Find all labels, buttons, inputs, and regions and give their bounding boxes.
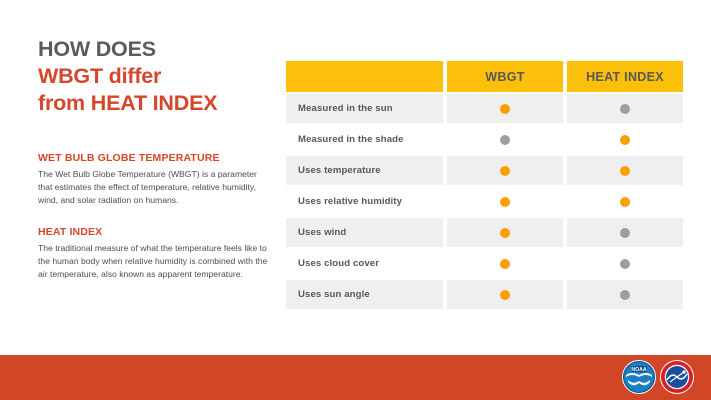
table-row: Uses relative humidity bbox=[286, 187, 683, 216]
dot-yes-icon bbox=[500, 259, 510, 269]
row-label-text: Measured in the shade bbox=[298, 134, 404, 145]
footer-logos: NOAA bbox=[622, 360, 694, 394]
row-label-cell: Uses sun angle bbox=[286, 280, 443, 309]
left-panel: HOW DOES WBGT differ from HEAT INDEX WET… bbox=[38, 36, 273, 281]
row-label-cell: Uses cloud cover bbox=[286, 249, 443, 278]
footer-bar: NOAA bbox=[0, 355, 711, 400]
header-cell-heat-index: HEAT INDEX bbox=[567, 61, 683, 92]
dot-yes-icon bbox=[620, 197, 630, 207]
dot-yes-icon bbox=[500, 104, 510, 114]
section-heat-index-heading: HEAT INDEX bbox=[38, 226, 273, 238]
dot-no-icon bbox=[620, 104, 630, 114]
dot-no-icon bbox=[500, 135, 510, 145]
title-line-2: WBGT differ bbox=[38, 63, 273, 90]
title-line-1: HOW DOES bbox=[38, 36, 273, 63]
wbgt-mark-cell bbox=[447, 187, 563, 216]
table-row: Uses temperature bbox=[286, 156, 683, 185]
dot-no-icon bbox=[620, 228, 630, 238]
row-label-cell: Measured in the shade bbox=[286, 125, 443, 154]
dot-yes-icon bbox=[500, 166, 510, 176]
dot-yes-icon bbox=[620, 166, 630, 176]
section-heat-index-body: The traditional measure of what the temp… bbox=[38, 242, 273, 282]
wbgt-mark-cell bbox=[447, 156, 563, 185]
heat-index-mark-cell bbox=[567, 249, 683, 278]
infographic-page: HOW DOES WBGT differ from HEAT INDEX WET… bbox=[0, 0, 711, 400]
nws-logo bbox=[660, 360, 694, 394]
page-title: HOW DOES WBGT differ from HEAT INDEX bbox=[38, 36, 273, 117]
section-wbgt-body: The Wet Bulb Globe Temperature (WBGT) is… bbox=[38, 168, 273, 208]
svg-text:NOAA: NOAA bbox=[631, 367, 647, 373]
table-body: Measured in the sunMeasured in the shade… bbox=[286, 94, 683, 309]
section-heat-index: HEAT INDEX The traditional measure of wh… bbox=[38, 226, 273, 282]
table-header-row: WBGT HEAT INDEX bbox=[286, 61, 683, 92]
heat-index-mark-cell bbox=[567, 94, 683, 123]
heat-index-mark-cell bbox=[567, 125, 683, 154]
row-label-cell: Measured in the sun bbox=[286, 94, 443, 123]
wbgt-mark-cell bbox=[447, 125, 563, 154]
heat-index-mark-cell bbox=[567, 280, 683, 309]
wbgt-mark-cell bbox=[447, 94, 563, 123]
dot-yes-icon bbox=[500, 197, 510, 207]
wbgt-mark-cell bbox=[447, 218, 563, 247]
heat-index-mark-cell bbox=[567, 156, 683, 185]
heat-index-mark-cell bbox=[567, 187, 683, 216]
row-label-cell: Uses relative humidity bbox=[286, 187, 443, 216]
row-label-cell: Uses temperature bbox=[286, 156, 443, 185]
table-row: Uses cloud cover bbox=[286, 249, 683, 278]
heat-index-mark-cell bbox=[567, 218, 683, 247]
row-label-text: Measured in the sun bbox=[298, 103, 393, 114]
dot-no-icon bbox=[620, 290, 630, 300]
table-row: Uses sun angle bbox=[286, 280, 683, 309]
dot-no-icon bbox=[620, 259, 630, 269]
header-cell-blank bbox=[286, 61, 443, 92]
noaa-logo: NOAA bbox=[622, 360, 656, 394]
table-row: Measured in the sun bbox=[286, 94, 683, 123]
header-cell-wbgt: WBGT bbox=[447, 61, 563, 92]
dot-yes-icon bbox=[500, 228, 510, 238]
comparison-table: WBGT HEAT INDEX Measured in the sunMeasu… bbox=[286, 61, 683, 311]
row-label-text: Uses cloud cover bbox=[298, 258, 379, 269]
dot-yes-icon bbox=[500, 290, 510, 300]
dot-yes-icon bbox=[620, 135, 630, 145]
row-label-text: Uses temperature bbox=[298, 165, 381, 176]
section-wbgt: WET BULB GLOBE TEMPERATURE The Wet Bulb … bbox=[38, 152, 273, 208]
row-label-cell: Uses wind bbox=[286, 218, 443, 247]
wbgt-mark-cell bbox=[447, 280, 563, 309]
section-wbgt-heading: WET BULB GLOBE TEMPERATURE bbox=[38, 152, 273, 164]
title-line-3: from HEAT INDEX bbox=[38, 90, 273, 117]
row-label-text: Uses sun angle bbox=[298, 289, 370, 300]
row-label-text: Uses relative humidity bbox=[298, 196, 402, 207]
wbgt-mark-cell bbox=[447, 249, 563, 278]
row-label-text: Uses wind bbox=[298, 227, 346, 238]
table-row: Uses wind bbox=[286, 218, 683, 247]
table-row: Measured in the shade bbox=[286, 125, 683, 154]
